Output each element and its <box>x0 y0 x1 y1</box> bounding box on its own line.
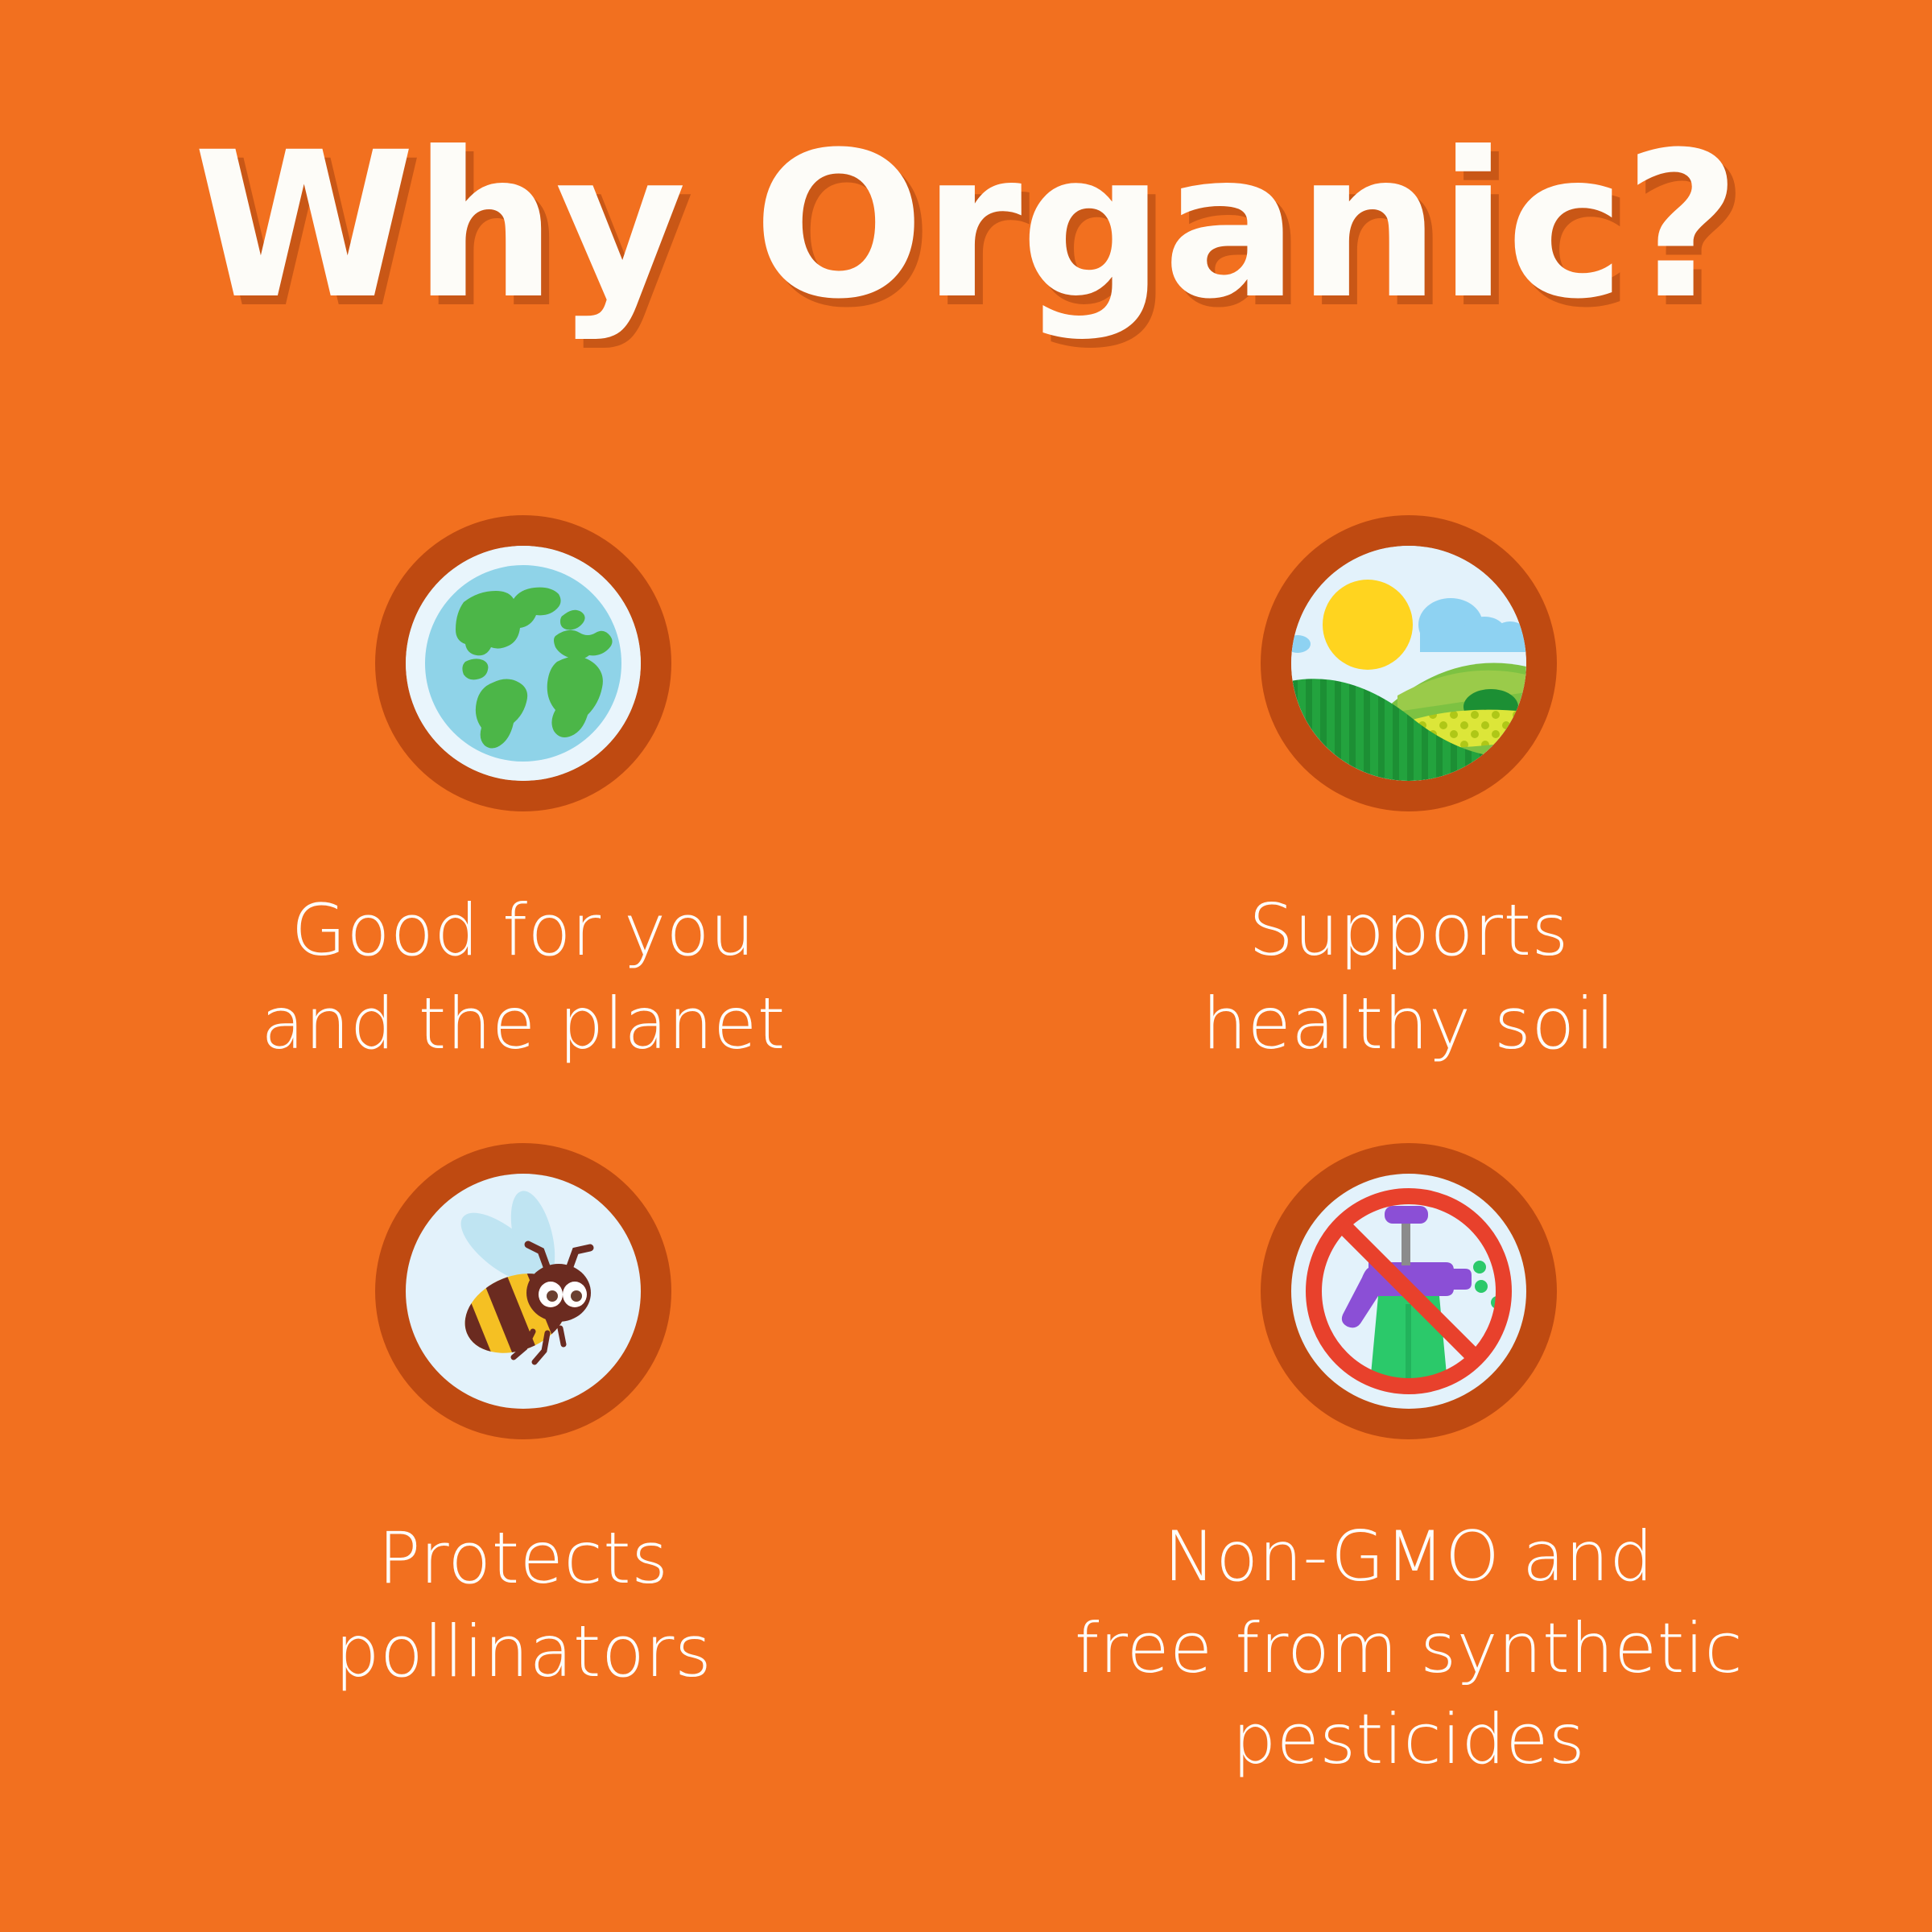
badge-inner-globe <box>406 546 641 781</box>
globe-earth-icon <box>406 546 641 781</box>
badge-farm <box>1261 515 1557 811</box>
benefit-caption: Protects pollinators <box>335 1512 712 1699</box>
badge-no-pesticide <box>1261 1143 1557 1439</box>
no-pesticide-spray-icon <box>1291 1174 1526 1409</box>
benefit-caption: Non-GMO and free from synthetic pesticid… <box>1075 1512 1743 1786</box>
benefit-caption: Good for you and the planet <box>261 884 786 1071</box>
bee-pollinator-icon <box>406 1174 641 1409</box>
poster-canvas: Why Organic? <box>0 0 1932 1932</box>
benefits-grid: Good for you and the planet <box>80 515 1851 1786</box>
benefit-card-healthy-soil: Supports healthy soil <box>966 515 1851 1071</box>
badge-inner-bee <box>406 1174 641 1409</box>
farm-landscape-icon <box>1291 546 1526 781</box>
benefit-card-good-for-you: Good for you and the planet <box>80 515 966 1071</box>
badge-globe <box>375 515 671 811</box>
benefit-card-pollinators: Protects pollinators <box>80 1143 966 1786</box>
benefit-caption: Supports healthy soil <box>1202 884 1615 1071</box>
badge-inner-no-pesticide <box>1291 1174 1526 1409</box>
benefit-card-non-gmo: Non-GMO and free from synthetic pesticid… <box>966 1143 1851 1786</box>
badge-bee <box>375 1143 671 1439</box>
badge-inner-farm <box>1291 546 1526 781</box>
page-title: Why Organic? <box>0 121 1932 332</box>
